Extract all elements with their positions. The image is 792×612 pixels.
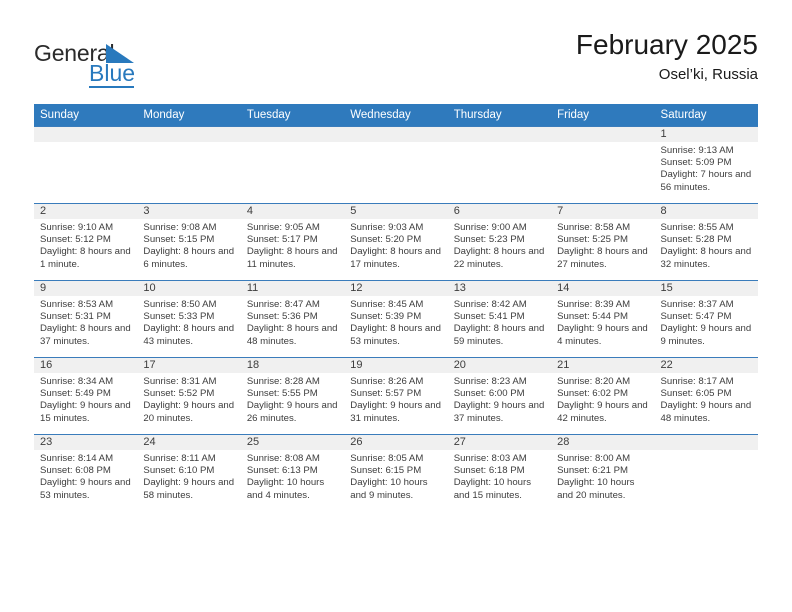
daylight-text: Daylight: 9 hours and 53 minutes. — [40, 477, 132, 501]
day-cell-content: 21Sunrise: 8:20 AMSunset: 6:02 PMDayligh… — [551, 358, 654, 434]
day-number — [137, 127, 240, 142]
day-number: 14 — [551, 281, 654, 296]
daylight-text: Daylight: 10 hours and 15 minutes. — [454, 477, 546, 501]
calendar-day-cell[interactable] — [344, 127, 447, 204]
calendar-day-cell[interactable] — [137, 127, 240, 204]
day-cell-content: 26Sunrise: 8:05 AMSunset: 6:15 PMDayligh… — [344, 435, 447, 511]
day-number: 26 — [344, 435, 447, 450]
calendar-week-row: 16Sunrise: 8:34 AMSunset: 5:49 PMDayligh… — [34, 358, 758, 435]
day-number: 13 — [448, 281, 551, 296]
sunset-text: Sunset: 5:25 PM — [557, 234, 649, 246]
day-cell-content: 20Sunrise: 8:23 AMSunset: 6:00 PMDayligh… — [448, 358, 551, 434]
sunset-text: Sunset: 6:10 PM — [143, 465, 235, 477]
sun-info: Sunrise: 9:03 AMSunset: 5:20 PMDaylight:… — [344, 219, 447, 271]
calendar-week-row: 23Sunrise: 8:14 AMSunset: 6:08 PMDayligh… — [34, 435, 758, 512]
day-number — [655, 435, 758, 450]
calendar-day-cell[interactable]: 7Sunrise: 8:58 AMSunset: 5:25 PMDaylight… — [551, 204, 654, 281]
day-cell-content: 11Sunrise: 8:47 AMSunset: 5:36 PMDayligh… — [241, 281, 344, 357]
weekday-header-thursday: Thursday — [448, 104, 551, 127]
daylight-text: Daylight: 7 hours and 56 minutes. — [661, 169, 753, 193]
daylight-text: Daylight: 10 hours and 20 minutes. — [557, 477, 649, 501]
calendar-day-cell[interactable]: 15Sunrise: 8:37 AMSunset: 5:47 PMDayligh… — [655, 281, 758, 358]
day-cell-content: 8Sunrise: 8:55 AMSunset: 5:28 PMDaylight… — [655, 204, 758, 280]
sunrise-text: Sunrise: 8:47 AM — [247, 299, 339, 311]
daylight-text: Daylight: 8 hours and 6 minutes. — [143, 246, 235, 270]
calendar-page: General Blue February 2025 Osel’ki, Russ… — [0, 0, 792, 612]
sunset-text: Sunset: 6:18 PM — [454, 465, 546, 477]
calendar-header-row: Sunday Monday Tuesday Wednesday Thursday… — [34, 104, 758, 127]
sunset-text: Sunset: 5:55 PM — [247, 388, 339, 400]
sunset-text: Sunset: 5:17 PM — [247, 234, 339, 246]
day-number: 9 — [34, 281, 137, 296]
calendar-week-row: 1Sunrise: 9:13 AMSunset: 5:09 PMDaylight… — [34, 127, 758, 204]
day-number — [34, 127, 137, 142]
calendar-day-cell[interactable]: 1Sunrise: 9:13 AMSunset: 5:09 PMDaylight… — [655, 127, 758, 204]
day-number: 8 — [655, 204, 758, 219]
sun-info: Sunrise: 8:58 AMSunset: 5:25 PMDaylight:… — [551, 219, 654, 271]
day-cell-content: 2Sunrise: 9:10 AMSunset: 5:12 PMDaylight… — [34, 204, 137, 280]
day-cell-content: 16Sunrise: 8:34 AMSunset: 5:49 PMDayligh… — [34, 358, 137, 434]
weekday-header-sunday: Sunday — [34, 104, 137, 127]
sun-info: Sunrise: 9:00 AMSunset: 5:23 PMDaylight:… — [448, 219, 551, 271]
sunset-text: Sunset: 5:52 PM — [143, 388, 235, 400]
sun-info: Sunrise: 8:08 AMSunset: 6:13 PMDaylight:… — [241, 450, 344, 502]
calendar-day-cell[interactable]: 2Sunrise: 9:10 AMSunset: 5:12 PMDaylight… — [34, 204, 137, 281]
daylight-text: Daylight: 8 hours and 17 minutes. — [350, 246, 442, 270]
day-cell-content: 17Sunrise: 8:31 AMSunset: 5:52 PMDayligh… — [137, 358, 240, 434]
weekday-header-saturday: Saturday — [655, 104, 758, 127]
daylight-text: Daylight: 8 hours and 37 minutes. — [40, 323, 132, 347]
day-number — [551, 127, 654, 142]
sunrise-text: Sunrise: 8:55 AM — [661, 222, 753, 234]
day-cell-content: 24Sunrise: 8:11 AMSunset: 6:10 PMDayligh… — [137, 435, 240, 511]
page-title: February 2025 — [576, 30, 758, 61]
day-cell-content: 3Sunrise: 9:08 AMSunset: 5:15 PMDaylight… — [137, 204, 240, 280]
sunrise-text: Sunrise: 8:50 AM — [143, 299, 235, 311]
sunrise-text: Sunrise: 9:08 AM — [143, 222, 235, 234]
calendar-day-cell[interactable]: 5Sunrise: 9:03 AMSunset: 5:20 PMDaylight… — [344, 204, 447, 281]
calendar-day-cell[interactable]: 10Sunrise: 8:50 AMSunset: 5:33 PMDayligh… — [137, 281, 240, 358]
day-number: 1 — [655, 127, 758, 142]
calendar-week-row: 2Sunrise: 9:10 AMSunset: 5:12 PMDaylight… — [34, 204, 758, 281]
day-cell-content: 15Sunrise: 8:37 AMSunset: 5:47 PMDayligh… — [655, 281, 758, 357]
daylight-text: Daylight: 9 hours and 26 minutes. — [247, 400, 339, 424]
sun-info: Sunrise: 8:42 AMSunset: 5:41 PMDaylight:… — [448, 296, 551, 348]
daylight-text: Daylight: 8 hours and 1 minute. — [40, 246, 132, 270]
sunset-text: Sunset: 5:57 PM — [350, 388, 442, 400]
day-cell-content: 6Sunrise: 9:00 AMSunset: 5:23 PMDaylight… — [448, 204, 551, 280]
sun-info: Sunrise: 8:26 AMSunset: 5:57 PMDaylight:… — [344, 373, 447, 425]
daylight-text: Daylight: 9 hours and 20 minutes. — [143, 400, 235, 424]
sun-info: Sunrise: 8:14 AMSunset: 6:08 PMDaylight:… — [34, 450, 137, 502]
logo-underline — [89, 86, 134, 88]
calendar-day-cell[interactable]: 26Sunrise: 8:05 AMSunset: 6:15 PMDayligh… — [344, 435, 447, 512]
sunrise-text: Sunrise: 8:00 AM — [557, 453, 649, 465]
sun-info: Sunrise: 9:10 AMSunset: 5:12 PMDaylight:… — [34, 219, 137, 271]
sun-info: Sunrise: 8:05 AMSunset: 6:15 PMDaylight:… — [344, 450, 447, 502]
sunset-text: Sunset: 5:41 PM — [454, 311, 546, 323]
day-cell-content: 12Sunrise: 8:45 AMSunset: 5:39 PMDayligh… — [344, 281, 447, 357]
day-cell-content — [448, 127, 551, 203]
day-number: 23 — [34, 435, 137, 450]
sunrise-text: Sunrise: 8:08 AM — [247, 453, 339, 465]
day-number: 22 — [655, 358, 758, 373]
sunset-text: Sunset: 5:15 PM — [143, 234, 235, 246]
sunrise-text: Sunrise: 8:26 AM — [350, 376, 442, 388]
calendar-day-cell[interactable]: 6Sunrise: 9:00 AMSunset: 5:23 PMDaylight… — [448, 204, 551, 281]
sunset-text: Sunset: 5:33 PM — [143, 311, 235, 323]
sunset-text: Sunset: 5:28 PM — [661, 234, 753, 246]
calendar-body: 1Sunrise: 9:13 AMSunset: 5:09 PMDaylight… — [34, 127, 758, 512]
day-cell-content — [344, 127, 447, 203]
day-cell-content — [34, 127, 137, 203]
general-blue-logo: General Blue — [34, 38, 204, 90]
day-cell-content: 4Sunrise: 9:05 AMSunset: 5:17 PMDaylight… — [241, 204, 344, 280]
title-block: February 2025 Osel’ki, Russia — [576, 30, 758, 83]
calendar-day-cell[interactable]: 16Sunrise: 8:34 AMSunset: 5:49 PMDayligh… — [34, 358, 137, 435]
day-cell-content: 1Sunrise: 9:13 AMSunset: 5:09 PMDaylight… — [655, 127, 758, 203]
sunrise-text: Sunrise: 9:00 AM — [454, 222, 546, 234]
daylight-text: Daylight: 9 hours and 9 minutes. — [661, 323, 753, 347]
calendar-day-cell[interactable] — [551, 127, 654, 204]
day-cell-content: 9Sunrise: 8:53 AMSunset: 5:31 PMDaylight… — [34, 281, 137, 357]
daylight-text: Daylight: 9 hours and 4 minutes. — [557, 323, 649, 347]
sun-info: Sunrise: 8:11 AMSunset: 6:10 PMDaylight:… — [137, 450, 240, 502]
day-number: 5 — [344, 204, 447, 219]
day-number: 17 — [137, 358, 240, 373]
day-cell-content — [241, 127, 344, 203]
sunset-text: Sunset: 5:39 PM — [350, 311, 442, 323]
day-cell-content: 13Sunrise: 8:42 AMSunset: 5:41 PMDayligh… — [448, 281, 551, 357]
daylight-text: Daylight: 9 hours and 15 minutes. — [40, 400, 132, 424]
calendar-day-cell[interactable]: 8Sunrise: 8:55 AMSunset: 5:28 PMDaylight… — [655, 204, 758, 281]
sunrise-text: Sunrise: 9:03 AM — [350, 222, 442, 234]
daylight-text: Daylight: 8 hours and 48 minutes. — [247, 323, 339, 347]
daylight-text: Daylight: 9 hours and 58 minutes. — [143, 477, 235, 501]
calendar-day-cell[interactable]: 28Sunrise: 8:00 AMSunset: 6:21 PMDayligh… — [551, 435, 654, 512]
sunrise-text: Sunrise: 8:58 AM — [557, 222, 649, 234]
calendar-day-cell[interactable]: 14Sunrise: 8:39 AMSunset: 5:44 PMDayligh… — [551, 281, 654, 358]
calendar-day-cell[interactable]: 9Sunrise: 8:53 AMSunset: 5:31 PMDaylight… — [34, 281, 137, 358]
calendar-day-cell[interactable] — [34, 127, 137, 204]
day-cell-content: 18Sunrise: 8:28 AMSunset: 5:55 PMDayligh… — [241, 358, 344, 434]
day-cell-content: 5Sunrise: 9:03 AMSunset: 5:20 PMDaylight… — [344, 204, 447, 280]
sunrise-text: Sunrise: 8:37 AM — [661, 299, 753, 311]
sunrise-text: Sunrise: 8:28 AM — [247, 376, 339, 388]
sunrise-text: Sunrise: 8:20 AM — [557, 376, 649, 388]
day-number — [241, 127, 344, 142]
sun-info: Sunrise: 9:05 AMSunset: 5:17 PMDaylight:… — [241, 219, 344, 271]
calendar-day-cell[interactable]: 24Sunrise: 8:11 AMSunset: 6:10 PMDayligh… — [137, 435, 240, 512]
sunrise-text: Sunrise: 9:05 AM — [247, 222, 339, 234]
sunrise-text: Sunrise: 8:53 AM — [40, 299, 132, 311]
day-number: 2 — [34, 204, 137, 219]
day-number: 10 — [137, 281, 240, 296]
sunset-text: Sunset: 6:00 PM — [454, 388, 546, 400]
day-number: 21 — [551, 358, 654, 373]
sunset-text: Sunset: 5:49 PM — [40, 388, 132, 400]
calendar-day-cell[interactable] — [241, 127, 344, 204]
sun-info: Sunrise: 8:23 AMSunset: 6:00 PMDaylight:… — [448, 373, 551, 425]
sun-info: Sunrise: 8:28 AMSunset: 5:55 PMDaylight:… — [241, 373, 344, 425]
calendar-day-cell[interactable]: 27Sunrise: 8:03 AMSunset: 6:18 PMDayligh… — [448, 435, 551, 512]
sun-info: Sunrise: 8:45 AMSunset: 5:39 PMDaylight:… — [344, 296, 447, 348]
calendar-day-cell[interactable]: 20Sunrise: 8:23 AMSunset: 6:00 PMDayligh… — [448, 358, 551, 435]
sunrise-text: Sunrise: 8:11 AM — [143, 453, 235, 465]
daylight-text: Daylight: 8 hours and 32 minutes. — [661, 246, 753, 270]
day-cell-content: 27Sunrise: 8:03 AMSunset: 6:18 PMDayligh… — [448, 435, 551, 511]
day-cell-content: 23Sunrise: 8:14 AMSunset: 6:08 PMDayligh… — [34, 435, 137, 511]
sun-info: Sunrise: 8:47 AMSunset: 5:36 PMDaylight:… — [241, 296, 344, 348]
location-subtitle: Osel’ki, Russia — [576, 67, 758, 84]
sun-info: Sunrise: 8:55 AMSunset: 5:28 PMDaylight:… — [655, 219, 758, 271]
sun-info: Sunrise: 8:50 AMSunset: 5:33 PMDaylight:… — [137, 296, 240, 348]
calendar-day-cell[interactable]: 18Sunrise: 8:28 AMSunset: 5:55 PMDayligh… — [241, 358, 344, 435]
sun-info: Sunrise: 8:53 AMSunset: 5:31 PMDaylight:… — [34, 296, 137, 348]
sun-info: Sunrise: 8:39 AMSunset: 5:44 PMDaylight:… — [551, 296, 654, 348]
sunrise-text: Sunrise: 8:17 AM — [661, 376, 753, 388]
day-number: 4 — [241, 204, 344, 219]
daylight-text: Daylight: 8 hours and 53 minutes. — [350, 323, 442, 347]
sunrise-text: Sunrise: 8:23 AM — [454, 376, 546, 388]
daylight-text: Daylight: 9 hours and 48 minutes. — [661, 400, 753, 424]
sun-info: Sunrise: 8:34 AMSunset: 5:49 PMDaylight:… — [34, 373, 137, 425]
day-number: 19 — [344, 358, 447, 373]
sun-info: Sunrise: 8:17 AMSunset: 6:05 PMDaylight:… — [655, 373, 758, 425]
weekday-header-monday: Monday — [137, 104, 240, 127]
calendar-day-cell[interactable]: 19Sunrise: 8:26 AMSunset: 5:57 PMDayligh… — [344, 358, 447, 435]
sunrise-text: Sunrise: 9:13 AM — [661, 145, 753, 157]
logo-text-blue: Blue — [89, 62, 135, 85]
daylight-text: Daylight: 8 hours and 11 minutes. — [247, 246, 339, 270]
sunrise-text: Sunrise: 8:31 AM — [143, 376, 235, 388]
day-cell-content: 7Sunrise: 8:58 AMSunset: 5:25 PMDaylight… — [551, 204, 654, 280]
day-cell-content: 28Sunrise: 8:00 AMSunset: 6:21 PMDayligh… — [551, 435, 654, 511]
day-number: 15 — [655, 281, 758, 296]
calendar-table: Sunday Monday Tuesday Wednesday Thursday… — [34, 104, 758, 511]
sun-info: Sunrise: 9:13 AMSunset: 5:09 PMDaylight:… — [655, 142, 758, 194]
sunset-text: Sunset: 5:20 PM — [350, 234, 442, 246]
sunset-text: Sunset: 5:12 PM — [40, 234, 132, 246]
sunrise-text: Sunrise: 8:45 AM — [350, 299, 442, 311]
daylight-text: Daylight: 8 hours and 59 minutes. — [454, 323, 546, 347]
calendar-day-cell[interactable]: 22Sunrise: 8:17 AMSunset: 6:05 PMDayligh… — [655, 358, 758, 435]
calendar-day-cell[interactable]: 3Sunrise: 9:08 AMSunset: 5:15 PMDaylight… — [137, 204, 240, 281]
sunset-text: Sunset: 6:15 PM — [350, 465, 442, 477]
day-number: 25 — [241, 435, 344, 450]
day-number: 16 — [34, 358, 137, 373]
sunrise-text: Sunrise: 8:03 AM — [454, 453, 546, 465]
calendar-day-cell[interactable]: 11Sunrise: 8:47 AMSunset: 5:36 PMDayligh… — [241, 281, 344, 358]
day-number: 24 — [137, 435, 240, 450]
sunset-text: Sunset: 6:13 PM — [247, 465, 339, 477]
sun-info: Sunrise: 8:37 AMSunset: 5:47 PMDaylight:… — [655, 296, 758, 348]
sun-info: Sunrise: 8:31 AMSunset: 5:52 PMDaylight:… — [137, 373, 240, 425]
day-cell-content — [655, 435, 758, 511]
sunrise-text: Sunrise: 8:39 AM — [557, 299, 649, 311]
sunrise-text: Sunrise: 8:05 AM — [350, 453, 442, 465]
day-number — [448, 127, 551, 142]
sun-info: Sunrise: 8:20 AMSunset: 6:02 PMDaylight:… — [551, 373, 654, 425]
calendar-day-cell[interactable] — [448, 127, 551, 204]
daylight-text: Daylight: 10 hours and 9 minutes. — [350, 477, 442, 501]
sunset-text: Sunset: 6:02 PM — [557, 388, 649, 400]
daylight-text: Daylight: 9 hours and 31 minutes. — [350, 400, 442, 424]
daylight-text: Daylight: 8 hours and 22 minutes. — [454, 246, 546, 270]
calendar-day-cell[interactable]: 13Sunrise: 8:42 AMSunset: 5:41 PMDayligh… — [448, 281, 551, 358]
daylight-text: Daylight: 9 hours and 37 minutes. — [454, 400, 546, 424]
day-number: 27 — [448, 435, 551, 450]
calendar-day-cell[interactable]: 4Sunrise: 9:05 AMSunset: 5:17 PMDaylight… — [241, 204, 344, 281]
day-number: 11 — [241, 281, 344, 296]
calendar-day-cell[interactable]: 21Sunrise: 8:20 AMSunset: 6:02 PMDayligh… — [551, 358, 654, 435]
daylight-text: Daylight: 8 hours and 27 minutes. — [557, 246, 649, 270]
calendar-day-cell[interactable]: 17Sunrise: 8:31 AMSunset: 5:52 PMDayligh… — [137, 358, 240, 435]
day-cell-content — [137, 127, 240, 203]
day-number: 7 — [551, 204, 654, 219]
sun-info: Sunrise: 8:03 AMSunset: 6:18 PMDaylight:… — [448, 450, 551, 502]
daylight-text: Daylight: 10 hours and 4 minutes. — [247, 477, 339, 501]
calendar-day-cell[interactable] — [655, 435, 758, 512]
sunset-text: Sunset: 5:36 PM — [247, 311, 339, 323]
sunset-text: Sunset: 5:31 PM — [40, 311, 132, 323]
sunset-text: Sunset: 6:08 PM — [40, 465, 132, 477]
sun-info: Sunrise: 8:00 AMSunset: 6:21 PMDaylight:… — [551, 450, 654, 502]
day-cell-content: 22Sunrise: 8:17 AMSunset: 6:05 PMDayligh… — [655, 358, 758, 434]
page-header: General Blue February 2025 Osel’ki, Russ… — [34, 30, 758, 92]
sunrise-text: Sunrise: 8:14 AM — [40, 453, 132, 465]
weekday-header-tuesday: Tuesday — [241, 104, 344, 127]
day-number: 12 — [344, 281, 447, 296]
sunset-text: Sunset: 5:09 PM — [661, 157, 753, 169]
day-number: 6 — [448, 204, 551, 219]
sunrise-text: Sunrise: 8:34 AM — [40, 376, 132, 388]
day-cell-content: 19Sunrise: 8:26 AMSunset: 5:57 PMDayligh… — [344, 358, 447, 434]
daylight-text: Daylight: 8 hours and 43 minutes. — [143, 323, 235, 347]
weekday-header-friday: Friday — [551, 104, 654, 127]
sun-info: Sunrise: 9:08 AMSunset: 5:15 PMDaylight:… — [137, 219, 240, 271]
calendar-day-cell[interactable]: 25Sunrise: 8:08 AMSunset: 6:13 PMDayligh… — [241, 435, 344, 512]
daylight-text: Daylight: 9 hours and 42 minutes. — [557, 400, 649, 424]
sunset-text: Sunset: 6:21 PM — [557, 465, 649, 477]
sunset-text: Sunset: 6:05 PM — [661, 388, 753, 400]
calendar-day-cell[interactable]: 23Sunrise: 8:14 AMSunset: 6:08 PMDayligh… — [34, 435, 137, 512]
day-cell-content: 10Sunrise: 8:50 AMSunset: 5:33 PMDayligh… — [137, 281, 240, 357]
sunset-text: Sunset: 5:23 PM — [454, 234, 546, 246]
calendar-day-cell[interactable]: 12Sunrise: 8:45 AMSunset: 5:39 PMDayligh… — [344, 281, 447, 358]
sunset-text: Sunset: 5:47 PM — [661, 311, 753, 323]
day-number — [344, 127, 447, 142]
day-cell-content — [551, 127, 654, 203]
day-cell-content: 14Sunrise: 8:39 AMSunset: 5:44 PMDayligh… — [551, 281, 654, 357]
day-number: 28 — [551, 435, 654, 450]
calendar-week-row: 9Sunrise: 8:53 AMSunset: 5:31 PMDaylight… — [34, 281, 758, 358]
day-number: 18 — [241, 358, 344, 373]
day-number: 3 — [137, 204, 240, 219]
weekday-header-wednesday: Wednesday — [344, 104, 447, 127]
sunset-text: Sunset: 5:44 PM — [557, 311, 649, 323]
day-cell-content: 25Sunrise: 8:08 AMSunset: 6:13 PMDayligh… — [241, 435, 344, 511]
day-number: 20 — [448, 358, 551, 373]
sunrise-text: Sunrise: 9:10 AM — [40, 222, 132, 234]
sunrise-text: Sunrise: 8:42 AM — [454, 299, 546, 311]
